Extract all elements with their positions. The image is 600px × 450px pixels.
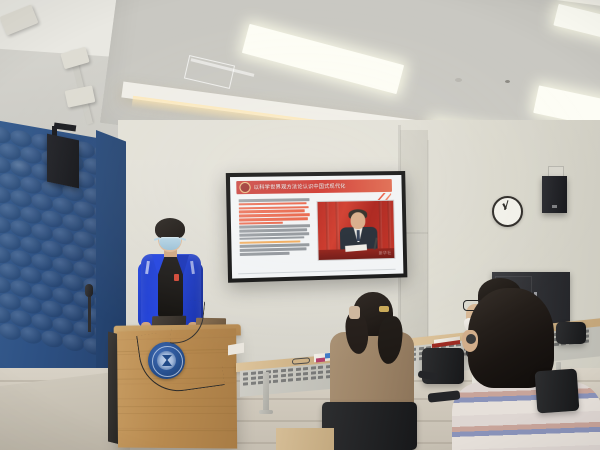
desk-surface-foreground xyxy=(276,428,334,450)
perforation xyxy=(311,366,316,369)
screen-surface: 以科学世界观方法论认识中国式现代化 新华社 xyxy=(230,175,403,279)
slide-photo: 新华社 xyxy=(317,201,394,260)
perforation xyxy=(273,375,278,378)
photo-speaker-tie xyxy=(357,230,360,241)
desk-foot xyxy=(259,410,273,414)
photo-watermark: 新华社 xyxy=(379,250,392,256)
slide-text-line xyxy=(240,252,290,256)
perforation xyxy=(303,367,308,370)
perforation xyxy=(251,382,256,385)
wood-grain xyxy=(118,413,237,414)
desk-leg xyxy=(263,372,269,414)
presenter-shirt-logo xyxy=(174,274,179,281)
slide-title: 以科学世界观方法论认识中国式现代化 xyxy=(254,183,346,191)
perforation xyxy=(296,368,301,371)
wall-outlet[interactable] xyxy=(6,320,15,327)
smoke-detector-icon xyxy=(455,78,462,82)
wood-grain xyxy=(118,398,237,400)
perforation xyxy=(318,371,323,374)
perforation xyxy=(281,379,286,382)
speaker-logo xyxy=(552,205,557,208)
perforation xyxy=(273,380,278,383)
perforation xyxy=(318,366,323,369)
perforation xyxy=(318,376,323,379)
hair-clip xyxy=(379,306,389,312)
slide-text-line xyxy=(239,202,307,206)
back-wall-upper xyxy=(118,120,418,160)
perforation xyxy=(243,372,248,375)
perforation xyxy=(281,374,286,377)
slide-body-text xyxy=(239,198,311,272)
perforation xyxy=(303,372,308,375)
perforation xyxy=(288,373,293,376)
perforation xyxy=(311,371,316,374)
wall-clock xyxy=(492,196,523,227)
perforation xyxy=(288,378,293,381)
perforation xyxy=(273,370,278,373)
wood-grain xyxy=(118,430,237,431)
perforation xyxy=(288,368,293,371)
chair-back[interactable] xyxy=(322,402,417,450)
lecture-room-photo: 以科学世界观方法论认识中国式现代化 新华社 xyxy=(0,0,600,450)
perforation xyxy=(243,377,248,380)
photo-speaker-head xyxy=(350,212,365,229)
floor-microphone-stand xyxy=(88,292,91,332)
perforation xyxy=(303,377,308,380)
perforation xyxy=(251,372,256,375)
wood-grain xyxy=(118,406,237,407)
person-mask-side xyxy=(349,306,360,319)
slide-text-line xyxy=(239,217,308,221)
projection-screen[interactable]: 以科学世界观方法论认识中国式现代化 新华社 xyxy=(226,171,408,283)
perforation xyxy=(251,377,256,380)
floor-microphone[interactable] xyxy=(85,284,93,297)
chair-back[interactable] xyxy=(556,322,586,344)
slide-accent-graphic xyxy=(377,193,391,200)
clock-center-pin xyxy=(504,208,507,211)
perforation xyxy=(311,376,316,379)
perforation xyxy=(296,373,301,376)
ceiling-sensor-icon xyxy=(505,80,510,83)
ceiling-speaker-left xyxy=(47,134,79,189)
chair-back[interactable] xyxy=(535,369,580,414)
perforation xyxy=(281,369,286,372)
earphone-icon xyxy=(466,334,476,344)
slide-text-line xyxy=(240,247,307,251)
perforation xyxy=(296,378,301,381)
slide-title-bar: 以科学世界观方法论认识中国式现代化 xyxy=(236,179,392,194)
perforation xyxy=(243,382,248,385)
party-emblem-icon xyxy=(239,182,250,193)
